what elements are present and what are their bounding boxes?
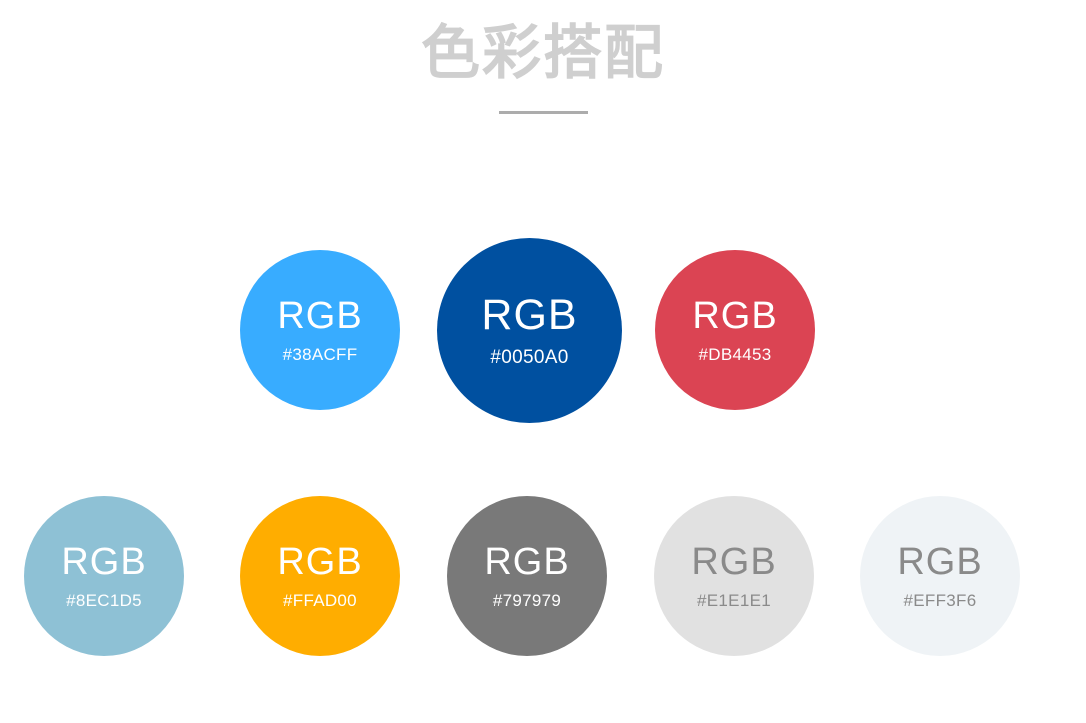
swatch-label: RGB bbox=[481, 294, 577, 337]
swatch-hex-code: #E1E1E1 bbox=[697, 592, 771, 609]
swatch-label: RGB bbox=[277, 543, 362, 581]
swatch-hex-code: #DB4453 bbox=[699, 346, 772, 363]
color-swatch-amber-orange[interactable]: RGB#FFAD00 bbox=[240, 496, 400, 656]
color-palette-page: 色彩搭配 RGB#38ACFFRGB#0050A0RGB#DB4453 RGB#… bbox=[0, 0, 1086, 723]
swatch-label: RGB bbox=[692, 297, 777, 335]
swatch-hex-code: #38ACFF bbox=[283, 346, 358, 363]
swatch-label: RGB bbox=[691, 543, 776, 581]
color-swatch-pale-blue[interactable]: RGB#8EC1D5 bbox=[24, 496, 184, 656]
color-swatch-medium-gray[interactable]: RGB#797979 bbox=[447, 496, 607, 656]
swatch-hex-code: #FFAD00 bbox=[283, 592, 357, 609]
swatch-hex-code: #797979 bbox=[493, 592, 561, 609]
color-swatch-deep-blue[interactable]: RGB#0050A0 bbox=[437, 238, 622, 423]
swatch-hex-code: #EFF3F6 bbox=[904, 592, 977, 609]
color-swatch-crimson-red[interactable]: RGB#DB4453 bbox=[655, 250, 815, 410]
swatch-row-secondary-row: RGB#8EC1D5RGB#FFAD00RGB#797979RGB#E1E1E1… bbox=[0, 496, 1086, 658]
swatch-label: RGB bbox=[61, 543, 146, 581]
swatch-row-primary-row: RGB#38ACFFRGB#0050A0RGB#DB4453 bbox=[0, 238, 1086, 428]
swatch-label: RGB bbox=[277, 297, 362, 335]
color-swatch-off-white[interactable]: RGB#EFF3F6 bbox=[860, 496, 1020, 656]
swatch-hex-code: #8EC1D5 bbox=[66, 592, 142, 609]
swatch-label: RGB bbox=[484, 543, 569, 581]
swatch-label: RGB bbox=[897, 543, 982, 581]
color-swatch-light-gray[interactable]: RGB#E1E1E1 bbox=[654, 496, 814, 656]
color-swatch-sky-blue[interactable]: RGB#38ACFF bbox=[240, 250, 400, 410]
color-swatch-grid: RGB#38ACFFRGB#0050A0RGB#DB4453 RGB#8EC1D… bbox=[0, 0, 1086, 723]
swatch-hex-code: #0050A0 bbox=[490, 348, 568, 367]
